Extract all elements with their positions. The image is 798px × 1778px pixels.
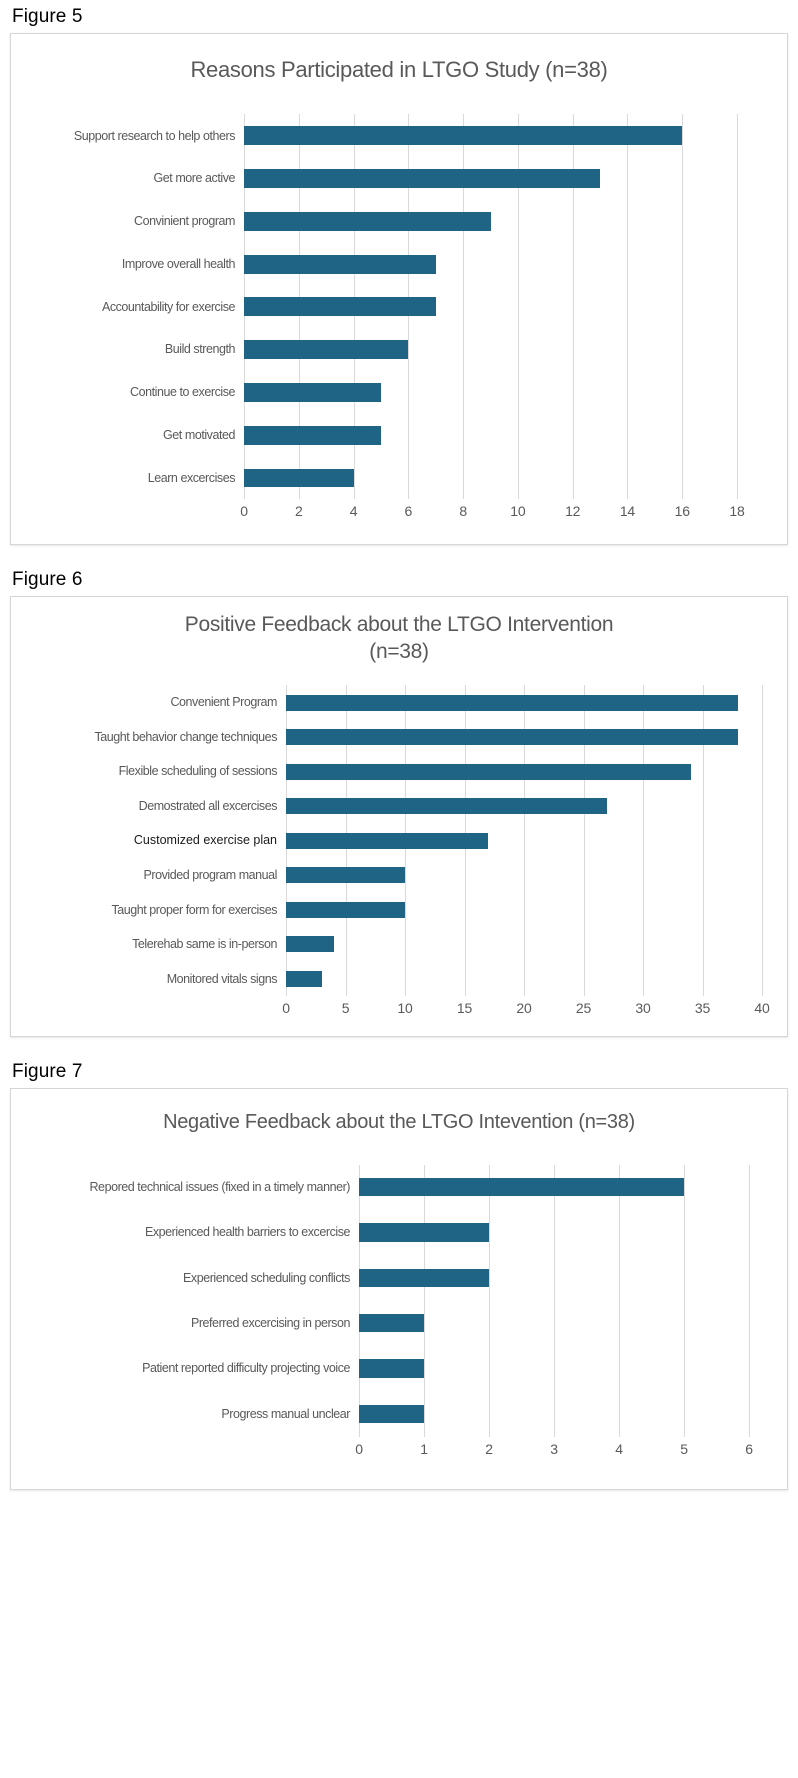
figure-5-container: Reasons Participated in LTGO Study (n=38… [10, 33, 788, 545]
chart-plot-area-7: Repored technical issues (fixed in a tim… [359, 1165, 749, 1463]
figure-7-container: Negative Feedback about the LTGO Inteven… [10, 1088, 788, 1490]
figure-caption-7: Figure 7 [12, 1061, 788, 1083]
chart-category-label: Taught proper form for exercises [111, 904, 286, 917]
chart-bar [359, 1223, 489, 1241]
chart-bar [286, 798, 607, 814]
chart-category-label: Monitored vitals signs [167, 973, 286, 986]
chart-row: Demostrated all excercises [286, 789, 762, 824]
chart-bar [244, 169, 600, 188]
chart-category-label: Get more active [154, 172, 244, 185]
chart-category-label: Progress manual unclear [221, 1408, 359, 1421]
chart-category-label: Telerehab same is in-person [132, 938, 286, 951]
chart-bar [244, 340, 408, 359]
chart-category-rows: Convenient ProgramTaught behavior change… [286, 685, 762, 996]
chart-row: Learn excercises [244, 457, 737, 500]
chart-category-label: Learn excercises [148, 472, 244, 485]
chart-x-tick-label: 10 [397, 1000, 412, 1016]
chart-row: Convinient program [244, 200, 737, 243]
chart-x-tick-label: 6 [745, 1441, 753, 1457]
chart-bar [244, 426, 381, 445]
chart-row: Improve overall health [244, 243, 737, 286]
chart-bar [244, 126, 682, 145]
chart-x-tick-label: 35 [695, 1000, 710, 1016]
chart-bar [359, 1314, 424, 1332]
chart-title-7: Negative Feedback about the LTGO Inteven… [11, 1089, 787, 1135]
chart-bar [286, 833, 488, 849]
chart-row: Flexible scheduling of sessions [286, 754, 762, 789]
chart-row: Get motivated [244, 414, 737, 457]
chart-category-label: Get motivated [163, 429, 244, 442]
chart-row: Progress manual unclear [359, 1391, 749, 1436]
chart-category-label: Accountability for exercise [102, 301, 244, 314]
chart-bars-region-6: Convenient ProgramTaught behavior change… [286, 685, 762, 996]
chart-bar [286, 936, 334, 952]
chart-row: Experienced scheduling conflicts [359, 1255, 749, 1300]
figure-6-container: Positive Feedback about the LTGO Interve… [10, 596, 788, 1037]
chart-x-tick-label: 25 [576, 1000, 591, 1016]
chart-category-label: Experienced health barriers to excercise [145, 1226, 359, 1239]
chart-x-tick-label: 30 [635, 1000, 650, 1016]
chart-row: Build strength [244, 328, 737, 371]
chart-x-tick-label: 0 [240, 503, 248, 519]
chart-gridline [762, 685, 763, 996]
chart-x-tick-label: 1 [420, 1441, 428, 1457]
chart-category-label: Experienced scheduling conflicts [183, 1272, 359, 1285]
chart-category-label: Repored technical issues (fixed in a tim… [89, 1181, 359, 1194]
chart-row: Preferred excercising in person [359, 1301, 749, 1346]
chart-category-label: Support research to help others [74, 130, 244, 143]
chart-x-tick-label: 0 [355, 1441, 363, 1457]
chart-bar [286, 867, 405, 883]
chart-row: Accountability for exercise [244, 286, 737, 329]
chart-x-tick-label: 20 [516, 1000, 531, 1016]
figure-caption-5: Figure 5 [12, 6, 788, 28]
chart-category-label: Taught behavior change techniques [94, 731, 286, 744]
chart-category-label: Demostrated all excercises [139, 800, 286, 813]
chart-x-tick-label: 5 [680, 1441, 688, 1457]
chart-category-label: Convenient Program [170, 696, 286, 709]
chart-gridline [737, 114, 738, 499]
chart-plot-area-6: Convenient ProgramTaught behavior change… [286, 685, 762, 1022]
chart-bar [286, 695, 738, 711]
chart-category-rows: Support research to help othersGet more … [244, 114, 737, 499]
chart-x-tick-label: 0 [282, 1000, 290, 1016]
chart-bar [286, 729, 738, 745]
chart-row: Convenient Program [286, 685, 762, 720]
chart-bar [359, 1359, 424, 1377]
chart-row: Repored technical issues (fixed in a tim… [359, 1165, 749, 1210]
chart-title-line: Positive Feedback about the LTGO Interve… [11, 611, 787, 638]
chart-plot-area-5: Support research to help othersGet more … [244, 114, 737, 525]
chart-x-axis-7: 0123456 [359, 1437, 749, 1463]
figure-caption-6: Figure 6 [12, 569, 788, 591]
chart-x-tick-label: 18 [729, 503, 744, 519]
chart-category-label: Provided program manual [144, 869, 286, 882]
chart-category-label: Build strength [165, 343, 244, 356]
chart-x-tick-label: 14 [620, 503, 635, 519]
chart-title-6: Positive Feedback about the LTGO Interve… [11, 597, 787, 666]
chart-x-tick-label: 16 [675, 503, 690, 519]
chart-category-label: Convinient program [134, 215, 244, 228]
chart-x-axis-6: 0510152025303540 [286, 996, 762, 1022]
chart-row: Telerehab same is in-person [286, 927, 762, 962]
chart-bar [286, 902, 405, 918]
chart-x-tick-label: 40 [754, 1000, 769, 1016]
chart-x-tick-label: 4 [350, 503, 358, 519]
chart-x-tick-label: 4 [615, 1441, 623, 1457]
chart-row: Support research to help others [244, 114, 737, 157]
chart-row: Monitored vitals signs [286, 962, 762, 997]
chart-x-tick-label: 2 [295, 503, 303, 519]
chart-x-tick-label: 5 [342, 1000, 350, 1016]
chart-x-tick-label: 2 [485, 1441, 493, 1457]
chart-category-label: Flexible scheduling of sessions [119, 765, 286, 778]
chart-row: Customized exercise plan [286, 823, 762, 858]
chart-row: Taught proper form for exercises [286, 893, 762, 928]
chart-category-rows: Repored technical issues (fixed in a tim… [359, 1165, 749, 1437]
chart-x-tick-label: 12 [565, 503, 580, 519]
chart-x-tick-label: 10 [510, 503, 525, 519]
chart-bar [244, 383, 381, 402]
chart-row: Experienced health barriers to excercise [359, 1210, 749, 1255]
chart-row: Get more active [244, 157, 737, 200]
chart-x-tick-label: 15 [457, 1000, 472, 1016]
chart-gridline [749, 1165, 750, 1437]
chart-category-label: Customized exercise plan [134, 834, 286, 847]
chart-row: Taught behavior change techniques [286, 720, 762, 755]
chart-bar [286, 971, 322, 987]
chart-row: Continue to exercise [244, 371, 737, 414]
chart-bar [359, 1405, 424, 1423]
chart-category-label: Preferred excercising in person [191, 1317, 359, 1330]
chart-bar [359, 1178, 684, 1196]
chart-x-axis-5: 024681012141618 [244, 499, 737, 525]
chart-category-label: Continue to exercise [130, 386, 244, 399]
chart-bars-region-7: Repored technical issues (fixed in a tim… [359, 1165, 749, 1437]
chart-bar [359, 1269, 489, 1287]
chart-bar [244, 255, 436, 274]
chart-x-tick-label: 6 [405, 503, 413, 519]
chart-bars-region-5: Support research to help othersGet more … [244, 114, 737, 499]
document-page: Figure 5 Reasons Participated in LTGO St… [0, 0, 798, 1778]
chart-row: Provided program manual [286, 858, 762, 893]
chart-bar [244, 297, 436, 316]
chart-bar [244, 212, 491, 231]
chart-category-label: Improve overall health [122, 258, 244, 271]
chart-title-5: Reasons Participated in LTGO Study (n=38… [11, 34, 787, 85]
chart-title-line: Negative Feedback about the LTGO Inteven… [11, 1109, 787, 1135]
chart-bar [286, 764, 691, 780]
chart-bar [244, 469, 354, 488]
chart-x-tick-label: 8 [459, 503, 467, 519]
chart-title-line-2: (n=38) [11, 638, 787, 665]
chart-x-tick-label: 3 [550, 1441, 558, 1457]
chart-category-label: Patient reported difficulty projecting v… [142, 1362, 359, 1375]
chart-row: Patient reported difficulty projecting v… [359, 1346, 749, 1391]
chart-title-line: Reasons Participated in LTGO Study (n=38… [11, 56, 787, 85]
